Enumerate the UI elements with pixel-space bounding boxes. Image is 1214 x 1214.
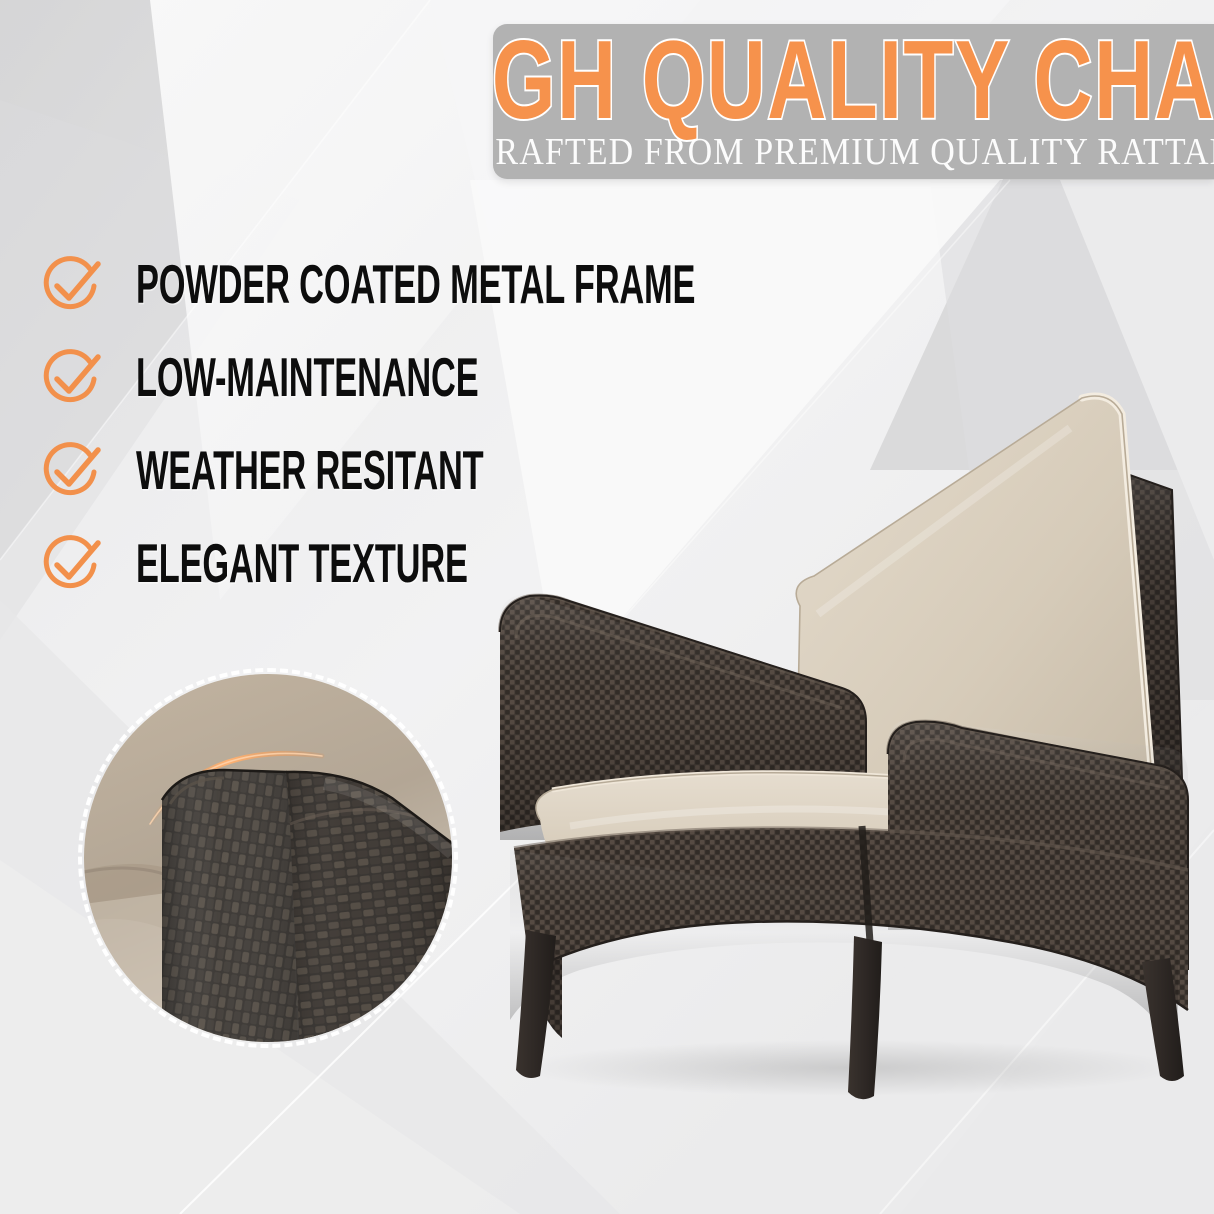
feature-label: LOW-MAINTENANCE (136, 350, 478, 404)
product-image (470, 370, 1214, 1100)
feature-item: POWDER COATED METAL FRAME (40, 238, 840, 331)
page-title: HIGH QUALITY CHAIR (498, 24, 1208, 145)
check-circle-icon (40, 348, 104, 408)
feature-label: WEATHER RESITANT (136, 443, 483, 497)
page-subtitle: CRAFTED FROM PREMIUM QUALITY RATTAN (493, 129, 1214, 176)
feature-label: POWDER COATED METAL FRAME (136, 257, 695, 311)
chair-base (500, 820, 1200, 1070)
rattan-armchair-illustration (470, 370, 1214, 1100)
check-circle-icon (40, 441, 104, 501)
detail-inset (78, 668, 458, 1048)
check-circle-icon (40, 255, 104, 315)
feature-label: ELEGANT TEXTURE (136, 536, 468, 590)
header-banner: HIGH QUALITY CHAIR CRAFTED FROM PREMIUM … (493, 24, 1214, 179)
detail-inset-border (78, 668, 458, 1048)
check-circle-icon (40, 534, 104, 594)
